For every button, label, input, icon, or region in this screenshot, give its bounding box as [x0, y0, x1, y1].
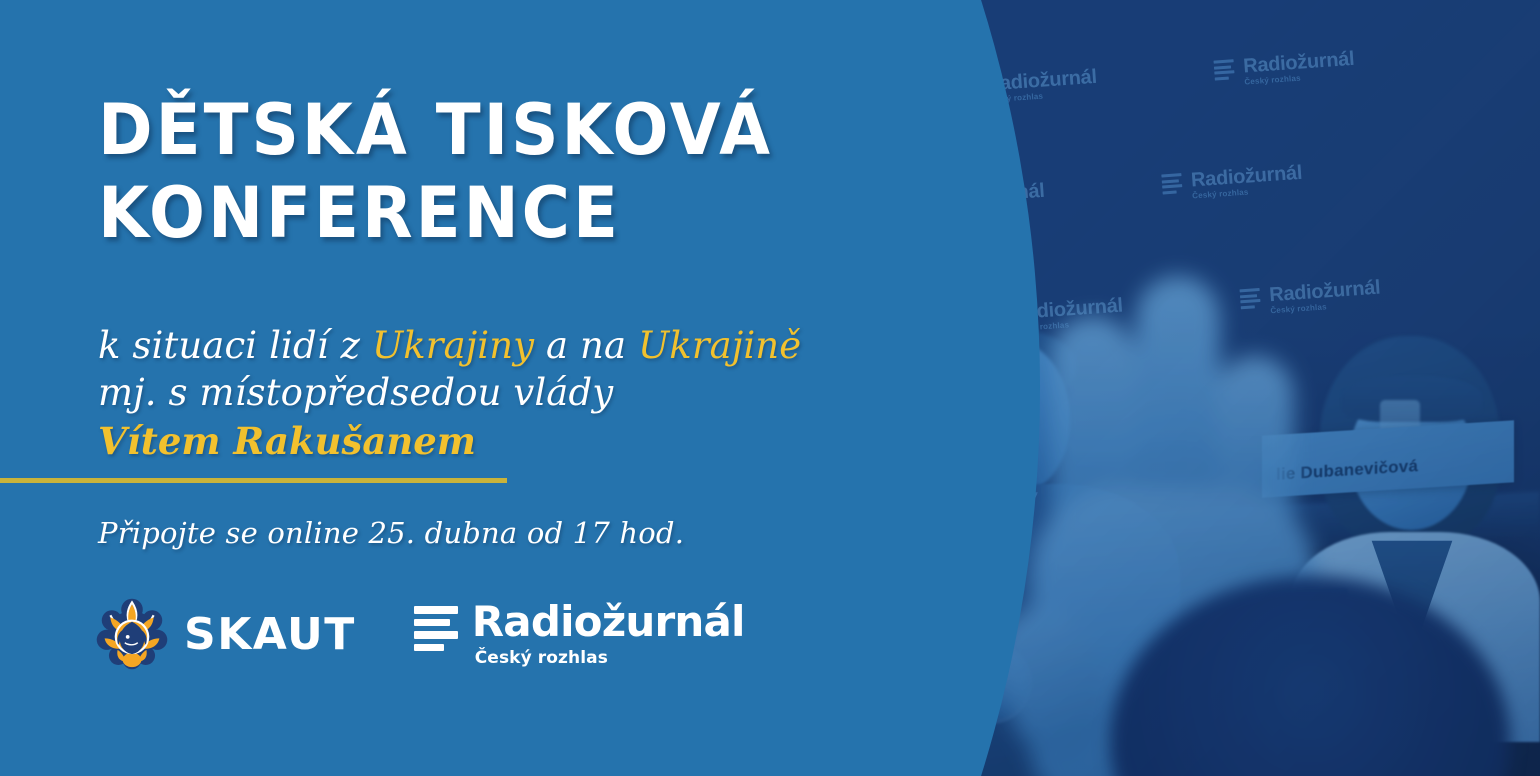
promo-poster: Radiožurnál Český rozhlas Radiožurnál Če…: [0, 0, 1540, 776]
highlight-ukrajiny: Ukrajiny: [372, 324, 534, 367]
subtitle-block: k situaci lidí z Ukrajiny a na Ukrajině …: [98, 322, 958, 465]
radiozurnal-title: Radiožurnál: [472, 601, 745, 643]
subtitle-text-part1: k situaci lidí z: [98, 324, 372, 367]
subtitle-line-1: k situaci lidí z Ukrajiny a na Ukrajině: [98, 322, 958, 369]
logo-row: SKAUT Radiožurnál Český rozhlas: [96, 598, 745, 670]
skaut-fleur-de-lis-icon: [96, 598, 168, 670]
radiozurnal-logo: Radiožurnál Český rozhlas: [414, 601, 745, 667]
highlight-ukrajine: Ukrajině: [638, 324, 801, 367]
subtitle-line-2: mj. s místopředsedou vlády: [98, 369, 958, 416]
event-datetime: Připojte se online 25. dubna od 17 hod.: [98, 516, 684, 550]
poster-content: DĚTSKÁ TISKOVÁ KONFERENCE k situaci lidí…: [0, 0, 980, 776]
headline-line-1: DĚTSKÁ TISKOVÁ: [98, 96, 850, 165]
skaut-logo: SKAUT: [96, 598, 356, 670]
radiozurnal-bars-icon: [414, 606, 458, 651]
gold-divider: [0, 478, 507, 483]
subtitle-text-part2: a na: [534, 324, 638, 367]
skaut-wordmark: SKAUT: [184, 609, 356, 660]
headline-line-2: KONFERENCE: [98, 179, 850, 248]
page-title: DĚTSKÁ TISKOVÁ KONFERENCE: [98, 96, 898, 247]
radiozurnal-subtitle: Český rozhlas: [475, 650, 745, 667]
guest-name: Vítem Rakušanem: [98, 417, 958, 465]
